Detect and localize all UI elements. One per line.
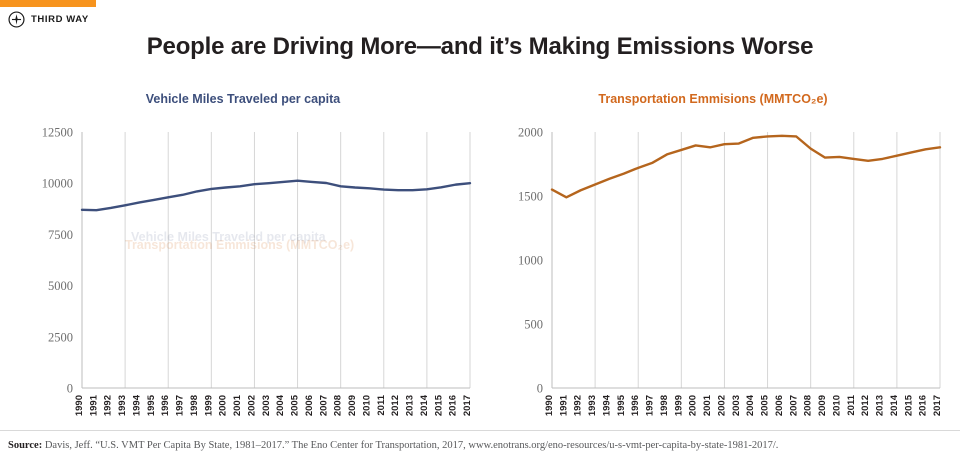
x-axis-tick-label: 2014 [419,394,430,416]
data-series-line [552,136,940,197]
x-axis-tick-label: 1999 [673,395,684,416]
y-axis-tick-label: 0 [537,382,543,396]
x-axis-tick-label: 2013 [875,395,886,416]
x-axis-tick-label: 2017 [932,395,943,416]
y-axis-tick-label: 5000 [48,279,73,293]
y-axis-tick-label: 2500 [48,330,73,344]
x-axis-tick-label: 1994 [131,394,142,416]
x-axis-tick-label: 2000 [688,395,699,416]
y-axis-tick-label: 7500 [48,228,73,242]
x-axis-tick-label: 2016 [918,395,929,416]
data-series-line [82,181,470,210]
x-axis-tick-label: 2011 [846,394,857,415]
line-chart-emissions: 0500100015002000199019911992199319941995… [478,126,948,426]
x-axis-tick-label: 1998 [659,395,670,416]
x-axis-tick-label: 2004 [745,394,756,416]
x-axis-tick-label: 1991 [558,394,569,416]
x-axis-tick-label: 2001 [232,394,243,416]
x-axis-tick-label: 2009 [817,395,828,416]
x-axis-tick-label: 2012 [860,395,871,416]
x-axis-tick-label: 2003 [731,395,742,416]
page-title: People are Driving More—and it’s Making … [0,33,960,61]
x-axis-tick-label: 1992 [573,395,584,416]
x-axis-tick-label: 1996 [160,395,171,416]
third-way-logo-text: THIRD WAY [31,14,89,25]
x-axis-tick-label: 1997 [645,395,656,416]
x-axis-tick-label: 2009 [347,395,358,416]
y-axis-tick-label: 1500 [518,190,543,204]
x-axis-tick-label: 2015 [433,394,444,416]
y-axis-tick-label: 12500 [42,126,73,140]
x-axis-tick-label: 2000 [218,395,229,416]
plot-area-emissions: 0500100015002000199019911992199319941995… [478,126,948,426]
x-axis-tick-label: 2008 [333,395,344,416]
x-axis-tick-label: 2013 [405,395,416,416]
x-axis-tick-label: 1994 [601,394,612,416]
x-axis-tick-label: 1992 [103,395,114,416]
source-citation: Source: Davis, Jeff. “U.S. VMT Per Capit… [8,440,952,451]
x-axis-tick-label: 2016 [448,395,459,416]
brand-accent-bar [0,0,96,7]
x-axis-tick-label: 2012 [390,395,401,416]
x-axis-tick-label: 1995 [616,394,627,416]
x-axis-tick-label: 1998 [189,395,200,416]
line-chart-vmt: 0250050007500100001250019901991199219931… [8,126,478,426]
x-axis-tick-label: 2002 [246,395,257,416]
third-way-logo: THIRD WAY [8,11,89,28]
x-axis-tick-label: 2008 [803,395,814,416]
y-axis-tick-label: 0 [67,382,73,396]
x-axis-tick-label: 2010 [361,395,372,416]
infographic-page: THIRD WAY People are Driving More—and it… [0,0,960,461]
x-axis-tick-label: 2001 [702,394,713,416]
x-axis-tick-label: 1990 [74,395,85,416]
source-label: Source: [8,440,42,451]
x-axis-tick-label: 2006 [774,395,785,416]
x-axis-tick-label: 1997 [175,395,186,416]
x-axis-tick-label: 2005 [290,394,301,416]
footer-divider [0,430,960,431]
x-axis-tick-label: 1990 [544,395,555,416]
x-axis-tick-label: 1993 [117,395,128,416]
x-axis-tick-label: 2007 [788,395,799,416]
plot-area-vmt: 0250050007500100001250019901991199219931… [8,126,478,426]
x-axis-tick-label: 2010 [831,395,842,416]
y-axis-tick-label: 1000 [518,254,543,268]
x-axis-tick-label: 2007 [318,395,329,416]
chart-title-vmt: Vehicle Miles Traveled per capita [8,92,478,106]
x-axis-tick-label: 2011 [376,394,387,415]
x-axis-tick-label: 2015 [903,394,914,416]
chart-panel-emissions: Transportation Emmisions (MMTCO₂e) 05001… [478,92,948,432]
x-axis-tick-label: 2014 [889,394,900,416]
y-axis-tick-label: 500 [524,318,543,332]
x-axis-tick-label: 2017 [462,395,473,416]
x-axis-tick-label: 1995 [146,394,157,416]
x-axis-tick-label: 2003 [261,395,272,416]
x-axis-tick-label: 1993 [587,395,598,416]
x-axis-tick-label: 1991 [88,394,99,416]
x-axis-tick-label: 1999 [203,395,214,416]
source-text: Davis, Jeff. “U.S. VMT Per Capita By Sta… [42,440,778,451]
x-axis-tick-label: 1996 [630,395,641,416]
chart-title-emissions: Transportation Emmisions (MMTCO₂e) [478,92,948,106]
y-axis-tick-label: 10000 [42,177,73,191]
chart-panel-vmt: Vehicle Miles Traveled per capita 025005… [8,92,478,432]
third-way-compass-icon [8,11,25,28]
x-axis-tick-label: 2002 [716,395,727,416]
x-axis-tick-label: 2006 [304,395,315,416]
y-axis-tick-label: 2000 [518,126,543,140]
x-axis-tick-label: 2004 [275,394,286,416]
x-axis-tick-label: 2005 [760,394,771,416]
